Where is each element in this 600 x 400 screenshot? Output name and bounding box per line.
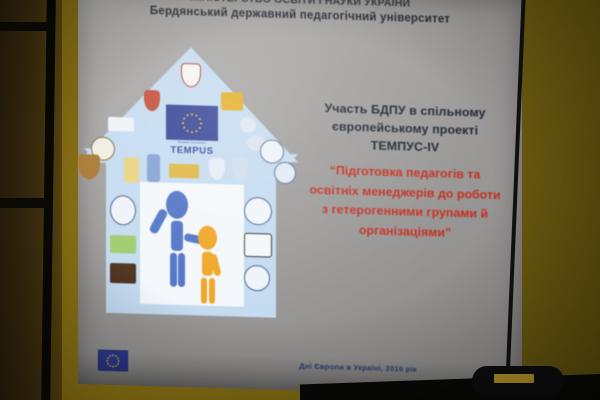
tempus-logo: European Commission TEMPUS [166, 105, 218, 158]
partner-logo [244, 265, 270, 292]
partner-logo [169, 164, 199, 179]
partner-logo [244, 197, 272, 226]
partner-logo [110, 195, 136, 226]
adult-figure-icon [166, 191, 188, 220]
eu-flag-icon [166, 105, 218, 141]
photo-scene: МІНІСТЕРСТВО ОСВІТИ І НАУКИ УКРАЇНИ Берд… [0, 0, 600, 400]
partner-logo [221, 92, 243, 111]
tempus-wordmark: TEMPUS [166, 145, 218, 157]
partner-logo [260, 139, 284, 164]
partner-logo [244, 233, 272, 258]
house-diagram: European Commission TEMPUS [84, 44, 298, 318]
partner-logo [124, 157, 139, 182]
partner-logo [78, 154, 100, 180]
wall-frame-bar-top [0, 22, 52, 31]
partner-logo [110, 235, 136, 254]
partner-logo [110, 263, 136, 284]
partner-logo [240, 117, 256, 133]
child-figure-icon [198, 225, 217, 250]
wall-frame-bar-middle [0, 198, 50, 208]
pointer-label-sticker [494, 374, 534, 383]
eu-stars-icon [181, 111, 203, 134]
slide-title-block: Участь БДПУ в спільному європейському пр… [294, 98, 516, 244]
house-inner-panel [140, 182, 244, 307]
partner-logo [147, 154, 160, 182]
partner-logo [274, 162, 296, 185]
partner-logo [108, 117, 134, 132]
projection-screen: МІНІСТЕРСТВО ОСВІТИ І НАУКИ УКРАЇНИ Берд… [78, 0, 522, 397]
presentation-slide: МІНІСТЕРСТВО ОСВІТИ І НАУКИ УКРАЇНИ Берд… [78, 0, 522, 397]
